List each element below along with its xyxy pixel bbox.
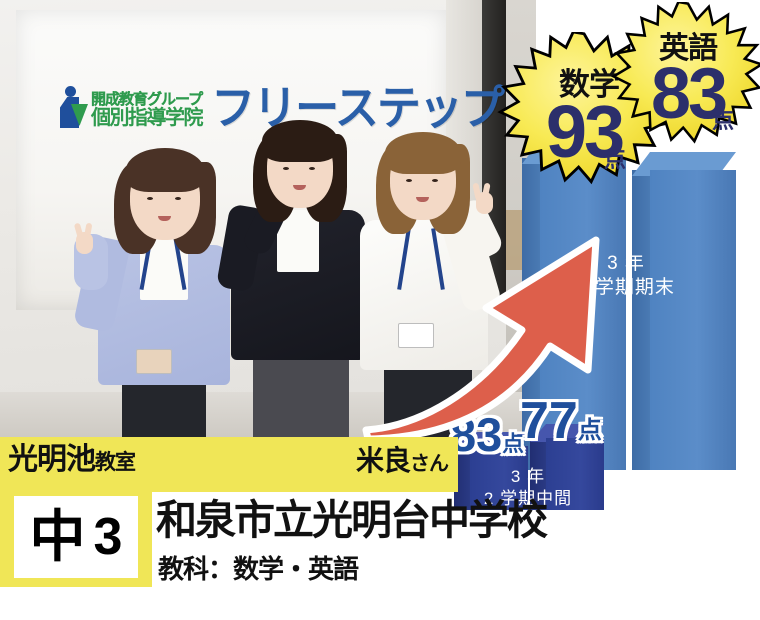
staff-badge — [136, 349, 172, 374]
person-leaf-logo-icon — [60, 86, 86, 128]
badge-english: 英語 83 点 — [608, 2, 760, 162]
poster-root: 開成教育グループ 個別指導学院 フリーステップ — [0, 0, 760, 620]
school-name: 和泉市立光明台中学校 — [156, 499, 546, 542]
classroom-label: 光明池教室 — [8, 445, 135, 475]
logo-group-line: 開成教育グループ — [91, 92, 202, 107]
growth-arrow-up-right-icon — [360, 180, 620, 440]
subjects-line: 教科：数学・英語 — [158, 556, 358, 582]
logo-academy-line: 個別指導学院 — [91, 108, 202, 128]
info-banner: 光明池教室 米良さん — [0, 437, 458, 492]
grade-box: 中 3 — [14, 496, 138, 578]
grade-box-frame: 中 3 — [0, 492, 152, 587]
student-name-label: 米良さん — [356, 447, 448, 475]
grade-kanji: 中 — [30, 509, 86, 565]
grade-number: 3 — [94, 511, 123, 563]
badge-english-unit: 点 — [712, 110, 734, 132]
